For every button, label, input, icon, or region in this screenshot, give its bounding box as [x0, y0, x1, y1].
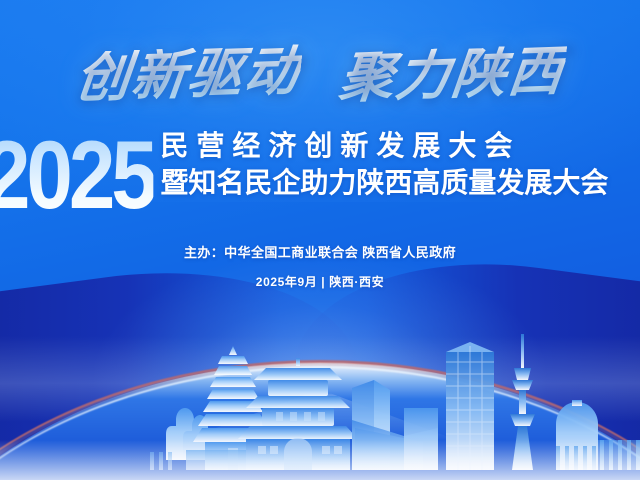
poster-canvas: 创新驱动聚力陕西 2025 民营经济创新发展大会 暨知名民企助力陕西高质量发展大… [0, 0, 640, 480]
date-location-line: 2025年9月 | 陕西·西安 [0, 273, 640, 291]
headline-calligraphy: 创新驱动聚力陕西 [0, 48, 640, 102]
organizer-line: 主办：中华全国工商业联合会 陕西省人民政府 [0, 243, 640, 263]
headline-right-phrase: 聚力陕西 [337, 44, 568, 106]
meta-block: 主办：中华全国工商业联合会 陕西省人民政府 2025年9月 | 陕西·西安 [0, 243, 640, 291]
title-line-1: 民营经济创新发展大会 [160, 128, 640, 164]
main-title-block: 2025 民营经济创新发展大会 暨知名民企助力陕西高质量发展大会 [0, 128, 640, 208]
year-numerals: 2025 [0, 128, 154, 222]
title-lines: 民营经济创新发展大会 暨知名民企助力陕西高质量发展大会 [160, 128, 640, 202]
title-line-2: 暨知名民企助力陕西高质量发展大会 [160, 164, 640, 202]
headline-left-phrase: 创新驱动 [73, 44, 304, 106]
xian-skyline-illustration [0, 300, 640, 480]
